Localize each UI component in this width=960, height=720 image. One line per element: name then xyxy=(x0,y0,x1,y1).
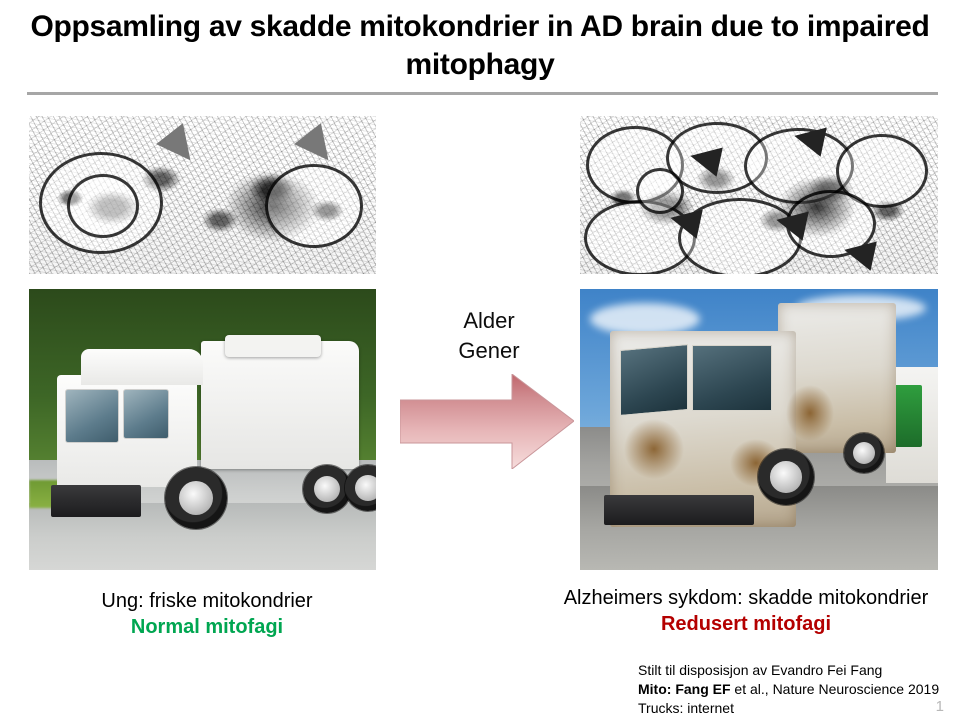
rust-damage xyxy=(624,419,684,479)
credit-line-1: Stilt til disposisjon av Evandro Fei Fan… xyxy=(638,661,939,680)
caption-right: Alzheimers sykdom: skadde mitokondrier R… xyxy=(546,585,946,637)
truck-hopper xyxy=(201,341,359,469)
truck-loader-arm xyxy=(225,335,321,357)
caption-left-sub: Normal mitofagi xyxy=(24,614,390,640)
red-arrowhead-icon xyxy=(791,121,827,157)
em-structure xyxy=(265,164,363,248)
wheel-hub xyxy=(179,481,214,516)
right-arrow-icon xyxy=(400,374,574,469)
credit-source-bold: Mito: Fang EF xyxy=(638,681,731,697)
truck-wheel xyxy=(844,433,884,473)
wheel-hub xyxy=(853,442,875,464)
credit-line-2: Mito: Fang EF et al., Nature Neuroscienc… xyxy=(638,680,939,699)
truck-side-window xyxy=(692,345,772,411)
truck-windshield xyxy=(620,344,688,416)
credit-line-3: Trucks: internet xyxy=(638,699,939,718)
caption-left-main: Ung: friske mitokondrier xyxy=(24,588,390,614)
page-number: 1 xyxy=(936,698,944,715)
credit-source-rest: et al., Nature Neuroscience 2019 xyxy=(731,681,940,697)
wheel-hub xyxy=(355,475,376,501)
blue-arrowhead-icon xyxy=(156,123,204,171)
truck-bumper xyxy=(604,495,754,525)
arrow-caption-line2: Gener xyxy=(396,336,582,366)
wheel-hub xyxy=(770,461,801,492)
truck-wheel xyxy=(303,465,351,513)
credits-block: Stilt til disposisjon av Evandro Fei Fan… xyxy=(638,661,939,718)
red-arrowhead-icon xyxy=(773,205,809,241)
truck-wheel xyxy=(758,449,814,505)
caption-right-sub: Redusert mitofagi xyxy=(546,611,946,637)
damaged-mitochondria-em xyxy=(580,116,938,274)
caption-right-main: Alzheimers sykdom: skadde mitokondrier xyxy=(546,585,946,611)
truck-side-window xyxy=(123,389,169,439)
truck-bumper xyxy=(51,485,141,517)
truck-roof xyxy=(81,349,203,385)
red-arrowhead-icon xyxy=(841,235,877,271)
truck-wheel xyxy=(165,467,227,529)
arrow-caption: Alder Gener xyxy=(396,306,582,366)
wheel-hub xyxy=(314,476,341,503)
caption-left: Ung: friske mitokondrier Normal mitofagi xyxy=(24,588,390,640)
red-arrowhead-icon xyxy=(667,203,703,239)
truck-windshield xyxy=(65,389,119,443)
page-title: Oppsamling av skadde mitokondrier in AD … xyxy=(30,8,930,84)
em-structure xyxy=(67,174,139,238)
red-arrowhead-icon xyxy=(687,141,723,177)
healthy-mitochondria-em xyxy=(29,116,376,274)
arrow-caption-line1: Alder xyxy=(396,306,582,336)
blue-arrowhead-icon xyxy=(294,123,342,171)
wrecked-garbage-truck-photo xyxy=(580,289,938,570)
clean-garbage-truck-photo xyxy=(29,289,376,570)
rust-damage xyxy=(786,385,834,441)
title-divider xyxy=(27,92,938,95)
